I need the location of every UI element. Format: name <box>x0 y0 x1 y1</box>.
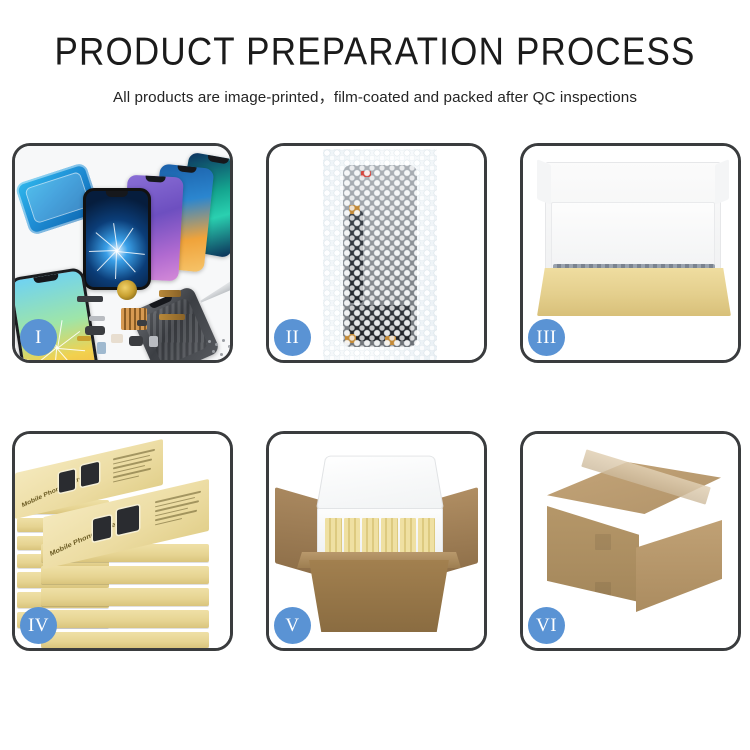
step-badge-2: II <box>274 319 311 356</box>
process-step-panel-6[interactable]: VI <box>520 431 741 651</box>
process-step-panel-2[interactable]: II <box>266 143 487 363</box>
process-step-panel-3[interactable]: III <box>520 143 741 363</box>
phone-front-glass <box>83 188 151 290</box>
page-header: PRODUCT PREPARATION PROCESS All products… <box>0 0 750 107</box>
step-badge-4: IV <box>20 607 57 644</box>
crack-pattern-icon <box>88 222 146 280</box>
step-badge-3: III <box>528 319 565 356</box>
process-step-panel-4[interactable]: Mobile Phone Spare Parts Mobile Phone Sp… <box>12 431 233 651</box>
spare-parts-cluster <box>75 280 230 360</box>
step-badge-1: I <box>20 319 57 356</box>
packed-yellow-boxes <box>325 518 435 554</box>
page-title: PRODUCT PREPARATION PROCESS <box>0 32 750 73</box>
tweezers-icon <box>198 276 230 306</box>
bubble-wrap-bag <box>323 149 437 360</box>
process-step-panel-5[interactable]: V <box>266 431 487 651</box>
step-badge-5: V <box>274 607 311 644</box>
styrofoam-lid <box>316 456 444 511</box>
process-step-grid: I II III <box>12 143 738 651</box>
process-step-panel-1[interactable]: I <box>12 143 233 363</box>
screws-cluster <box>206 338 230 360</box>
step-badge-6: VI <box>528 607 565 644</box>
foam-sheet <box>551 202 715 270</box>
yellow-box-tray <box>537 268 731 316</box>
page-subtitle: All products are image-printed，film-coat… <box>0 85 750 107</box>
carton-body <box>303 560 455 632</box>
